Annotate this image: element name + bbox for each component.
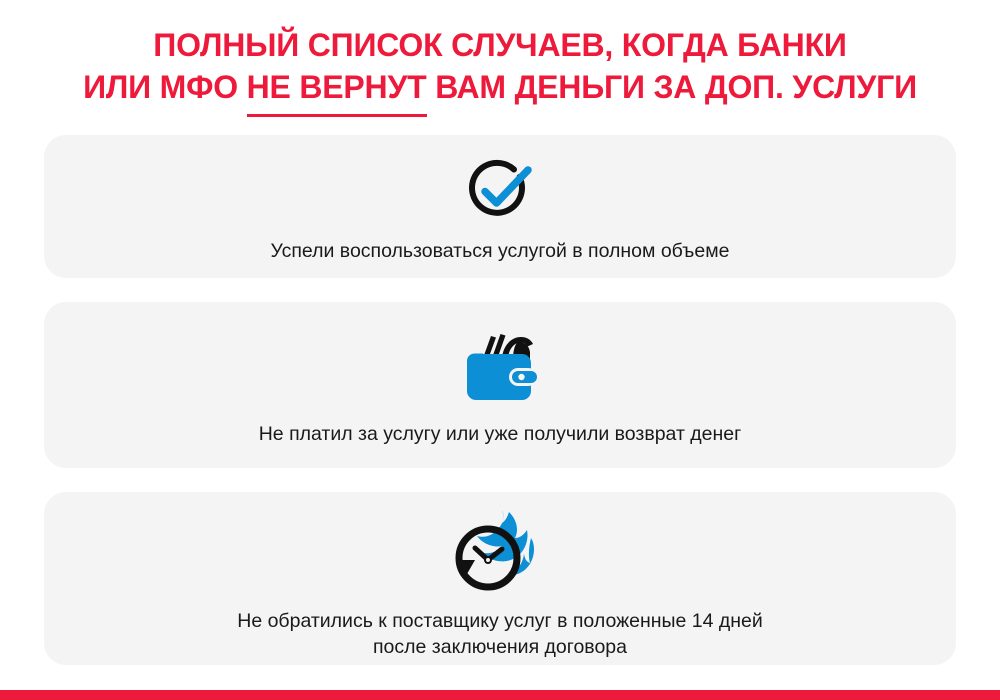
card-item-2: Не платил за услугу или уже получили воз… — [44, 302, 956, 468]
card-text-2: Не платил за услугу или уже получили воз… — [219, 421, 782, 447]
card-text-3-line-2: после заключения договора — [373, 636, 627, 658]
bottom-accent-bar — [0, 690, 1000, 700]
title-line-2-suffix: ВАМ ДЕНЬГИ ЗА ДОП. УСЛУГИ — [427, 69, 917, 105]
card-text-3-line-1: Не обратились к поставщику услуг в полож… — [237, 610, 763, 632]
card-item-3: Не обратились к поставщику услуг в полож… — [44, 492, 956, 665]
clock-fire-deadline-icon — [447, 502, 553, 598]
check-circle-icon — [462, 156, 538, 228]
wallet-money-icon — [459, 327, 541, 407]
cards-list: Успели воспользоваться услугой в полном … — [44, 135, 956, 665]
card-text-3: Не обратились к поставщику услуг в полож… — [197, 608, 803, 660]
title-line-2-prefix: ИЛИ МФО — [83, 69, 247, 105]
card-item-1: Успели воспользоваться услугой в полном … — [44, 135, 956, 278]
infographic-poster: ПОЛНЫЙ СПИСОК СЛУЧАЕВ, КОГДА БАНКИ ИЛИ М… — [0, 0, 1000, 700]
title-line-1: ПОЛНЫЙ СПИСОК СЛУЧАЕВ, КОГДА БАНКИ — [0, 24, 1000, 66]
title-highlight-ne-vernut: НЕ ВЕРНУТ — [247, 66, 427, 108]
poster-title: ПОЛНЫЙ СПИСОК СЛУЧАЕВ, КОГДА БАНКИ ИЛИ М… — [0, 24, 1000, 108]
card-text-1: Успели воспользоваться услугой в полном … — [231, 238, 770, 264]
title-line-2: ИЛИ МФО НЕ ВЕРНУТ ВАМ ДЕНЬГИ ЗА ДОП. УСЛ… — [0, 66, 1000, 108]
